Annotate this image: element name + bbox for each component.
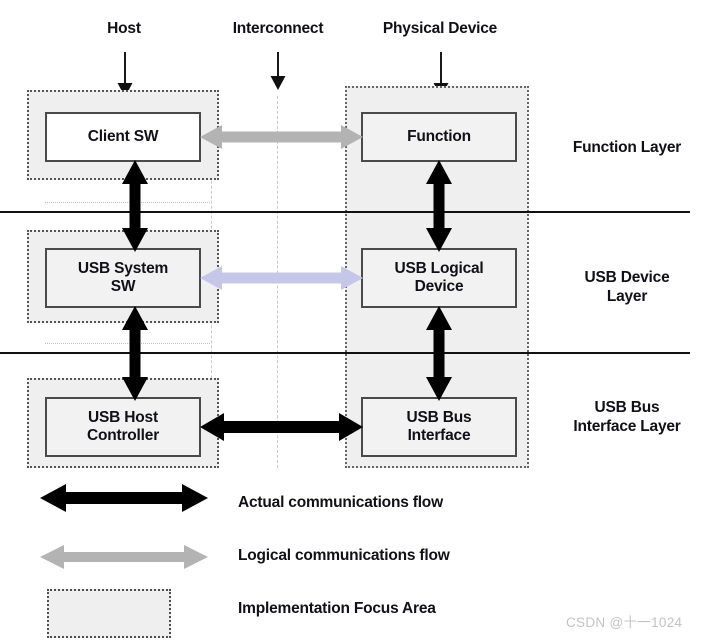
arrow-actual-flow-usb-bus-layer <box>200 412 363 442</box>
node-usb-system-sw[interactable]: USB System SW <box>45 248 201 308</box>
arrow-client-sw-to-usb-system-sw <box>113 160 157 252</box>
node-usb-bus-interface[interactable]: USB Bus Interface <box>361 397 517 457</box>
layer-label-usb-device: USB Device Layer <box>552 268 702 307</box>
node-usb-logical-device-label: USB Logical Device <box>394 260 483 297</box>
node-client-sw[interactable]: Client SW <box>45 112 201 162</box>
arrow-usb-logical-device-to-bus-interface <box>417 306 461 401</box>
legend-icon-actual-flow-arrow-icon <box>40 482 208 514</box>
layer-label-function: Function Layer <box>552 138 702 157</box>
node-usb-system-sw-label: USB System SW <box>78 260 168 297</box>
watermark: CSDN @十一1024 <box>566 611 682 631</box>
node-function[interactable]: Function <box>361 112 517 162</box>
column-caption-interconnect: Interconnect <box>208 20 348 38</box>
node-usb-host-controller[interactable]: USB Host Controller <box>45 397 201 457</box>
layer-separator-device-bus <box>0 352 690 354</box>
legend-icon-logical-flow-arrow-icon <box>40 541 208 573</box>
node-usb-logical-device[interactable]: USB Logical Device <box>361 248 517 308</box>
legend-label-actual-flow: Actual communications flow <box>238 494 443 512</box>
layer-label-usb-bus-interface: USB Bus Interface Layer <box>544 398 710 437</box>
legend-label-focus-area: Implementation Focus Area <box>238 600 436 618</box>
node-function-label: Function <box>407 128 471 146</box>
node-usb-host-controller-label: USB Host Controller <box>87 409 159 446</box>
column-caption-host: Host <box>74 20 174 38</box>
legend-label-logical-flow: Logical communications flow <box>238 547 450 565</box>
arrow-logical-flow-usb-device-layer <box>200 263 363 293</box>
node-client-sw-label: Client SW <box>88 128 159 146</box>
arrow-function-to-usb-logical-device <box>417 160 461 252</box>
node-usb-bus-interface-label: USB Bus Interface <box>407 409 472 446</box>
layer-separator-function-device <box>0 211 690 213</box>
column-caption-physical-device: Physical Device <box>362 20 518 38</box>
arrow-usb-system-sw-to-host-controller <box>113 306 157 401</box>
arrow-logical-flow-function-layer <box>200 122 363 152</box>
usb-layer-diagram: Host Interconnect Physical Device Client… <box>0 0 715 644</box>
legend-icon-focus-area-swatch <box>47 589 171 638</box>
interconnect-pointer-arrow-icon <box>267 52 289 98</box>
